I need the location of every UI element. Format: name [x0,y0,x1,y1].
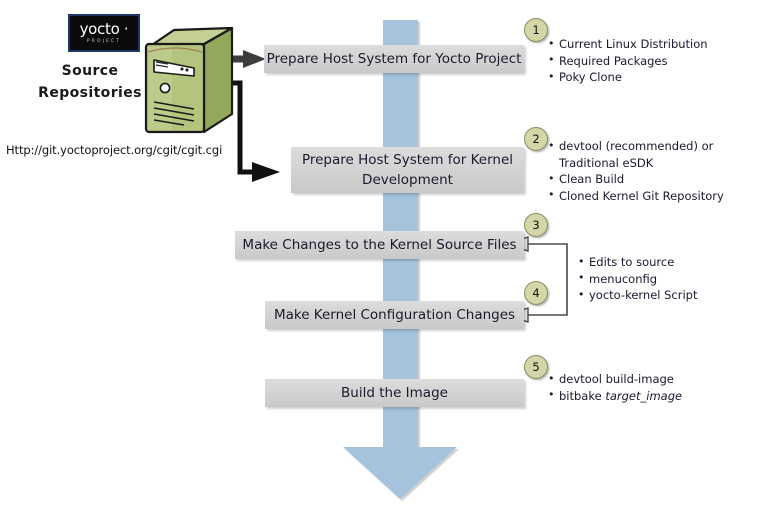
process-box-make-kernel-source-changes[interactable]: Make Changes to the Kernel Source Files [235,231,524,259]
box-label: Make Kernel Configuration Changes [274,305,515,325]
process-box-prepare-host-yocto[interactable]: Prepare Host System for Yocto Project [264,45,524,73]
step-number: 3 [532,218,539,232]
step-number: 2 [532,132,539,146]
logo-subtitle: PROJECT [87,38,121,45]
list-item: Clean Build [548,171,729,188]
box-label: Prepare Host System for Yocto Project [267,49,522,69]
process-box-prepare-host-kernel[interactable]: Prepare Host System for Kernel Developme… [291,147,524,193]
step-marker-4: 4 [524,281,548,305]
step-5-bullet-list: devtool build-image bitbake target_image [548,371,682,404]
bitbake-command-prefix: bitbake [559,389,605,403]
list-item: yocto-kernel Script [578,287,698,304]
list-item: Current Linux Distribution [548,36,708,53]
step-number: 4 [532,286,539,300]
box-label: Make Changes to the Kernel Source Files [242,235,516,255]
box-label: Prepare Host System for Kernel Developme… [302,150,513,190]
process-box-make-kernel-config-changes[interactable]: Make Kernel Configuration Changes [265,301,524,329]
logo-wordmark: yocto · [80,22,129,37]
steps-3-4-bullet-list: Edits to source menuconfig yocto-kernel … [578,254,698,304]
step-number: 1 [532,23,539,37]
process-box-build-the-image[interactable]: Build the Image [265,379,524,407]
list-item: Edits to source [578,254,698,271]
step-marker-5: 5 [524,355,548,379]
step-2-bullet-list: devtool (recommended) or Traditional eSD… [548,138,729,204]
box-label: Build the Image [341,383,448,403]
list-item: bitbake target_image [548,388,682,405]
diagram-canvas: yocto · PROJECT Source Repositories Http… [0,0,769,517]
list-item: Poky Clone [548,69,708,86]
list-item: devtool build-image [548,371,682,388]
box-label-line-2: Development [362,172,453,188]
box-label-line-1: Prepare Host System for Kernel [302,152,513,168]
list-item: devtool (recommended) or Traditional eSD… [548,138,729,171]
step-marker-3: 3 [524,213,548,237]
step-marker-1: 1 [524,18,548,42]
list-item: Cloned Kernel Git Repository [548,188,729,205]
step-1-bullet-list: Current Linux Distribution Required Pack… [548,36,708,86]
list-item: Required Packages [548,53,708,70]
server-tower-icon [128,22,240,140]
bitbake-target-argument: target_image [605,389,682,403]
source-repository-url: Http://git.yoctoproject.org/cgit/cgit.cg… [6,143,236,157]
list-item: menuconfig [578,271,698,288]
step-marker-2: 2 [524,127,548,151]
step-number: 5 [532,360,539,374]
